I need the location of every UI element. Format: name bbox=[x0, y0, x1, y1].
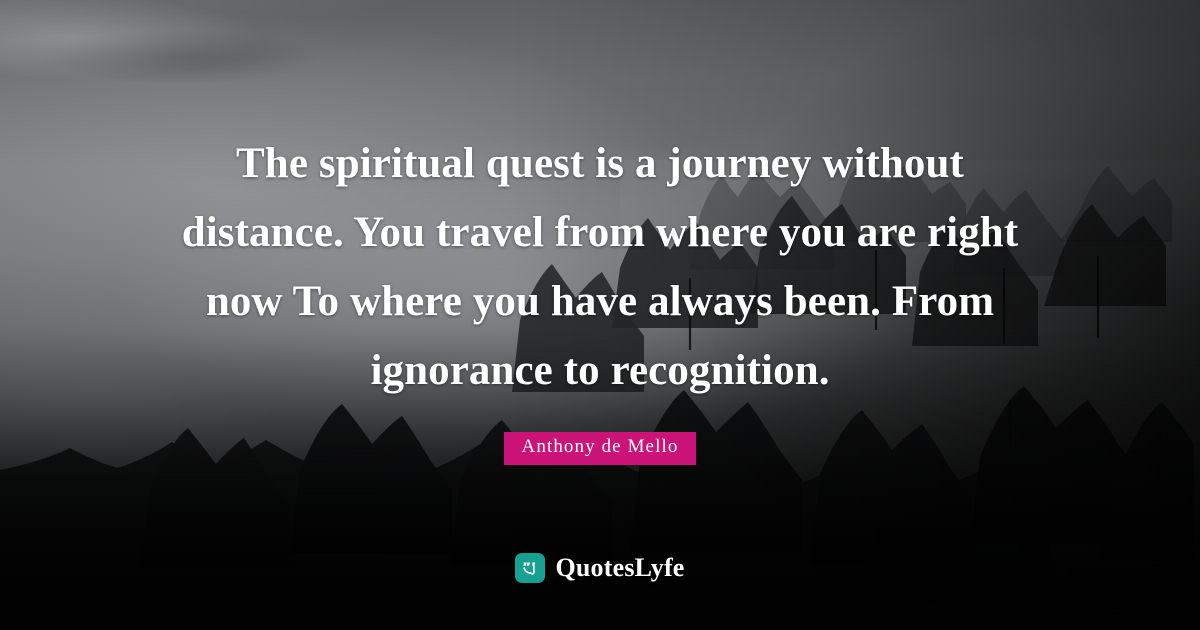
quote-line: The spiritual quest is a journey without bbox=[95, 129, 1105, 198]
quote-line: distance. You travel from where you are … bbox=[95, 198, 1105, 267]
quote-marks-smiley-icon bbox=[515, 553, 545, 583]
author-badge[interactable]: Anthony de Mello bbox=[504, 432, 697, 465]
quote-text: The spiritual quest is a journey without… bbox=[95, 129, 1105, 465]
quote-line: now To where you have always been. From bbox=[95, 267, 1105, 336]
brand-name: QuotesLyfe bbox=[555, 553, 684, 583]
card-content: The spiritual quest is a journey without… bbox=[0, 0, 1200, 630]
brand-logo[interactable]: QuotesLyfe bbox=[0, 553, 1200, 583]
quote-line: ignorance to recognition. bbox=[95, 336, 1105, 405]
quote-card: The spiritual quest is a journey without… bbox=[0, 0, 1200, 630]
